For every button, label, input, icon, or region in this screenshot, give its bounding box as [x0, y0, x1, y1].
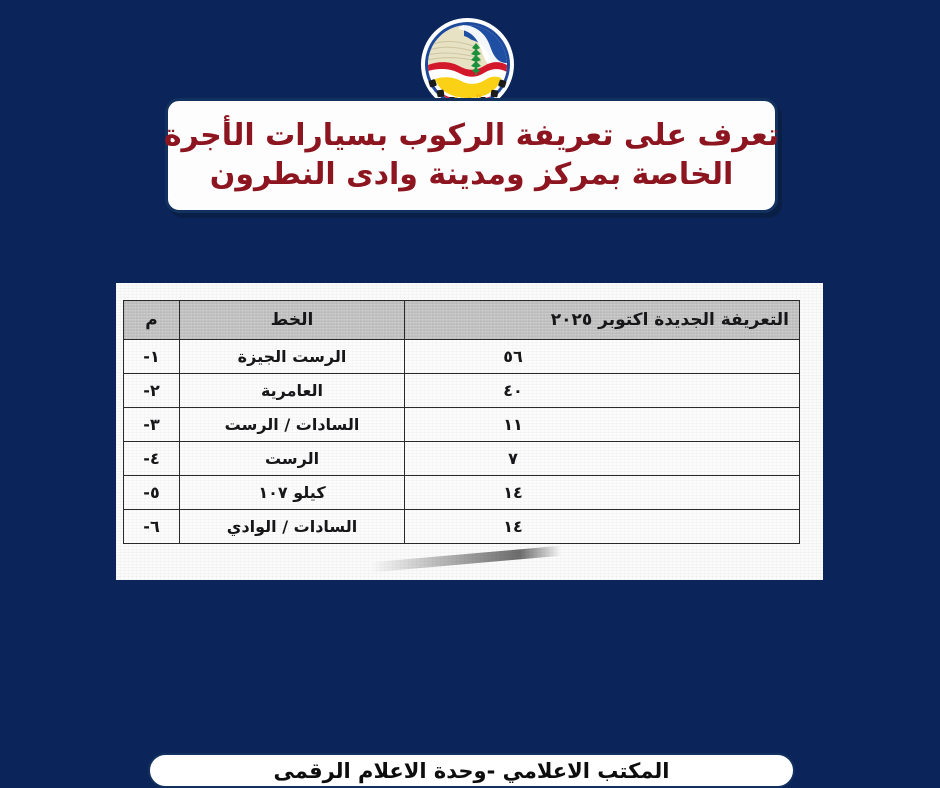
cell-index: ٥-: [124, 476, 180, 510]
cell-fare: ١٤: [405, 476, 800, 510]
table-row: ١٤ كيلو ١٠٧ ٥-: [124, 476, 800, 510]
table-row: ٥٦ الرست الجيزة ١-: [124, 340, 800, 374]
title-banner: تعرف على تعريفة الركوب بسيارات الأجرة ال…: [165, 98, 778, 213]
cell-fare: ١٤: [405, 510, 800, 544]
cell-index: ١-: [124, 340, 180, 374]
column-header-line: الخط: [180, 301, 405, 340]
title-line-1: تعرف على تعريفة الركوب بسيارات الأجرة: [164, 117, 779, 155]
cell-index: ٦-: [124, 510, 180, 544]
table-row: ٧ الرست ٤-: [124, 442, 800, 476]
cell-line: العامرية: [180, 374, 405, 408]
cell-line: كيلو ١٠٧: [180, 476, 405, 510]
footer-text: المكتب الاعلامي -وحدة الاعلام الرقمى: [274, 759, 670, 783]
cell-fare: ١١: [405, 408, 800, 442]
cell-index: ٣-: [124, 408, 180, 442]
title-line-2: الخاصة بمركز ومدينة وادى النطرون: [210, 156, 734, 194]
table-row: ٤٠ العامرية ٢-: [124, 374, 800, 408]
table-row: ١٤ السادات / الوادي ٦-: [124, 510, 800, 544]
table-row: ١١ السادات / الرست ٣-: [124, 408, 800, 442]
column-header-fare: التعريفة الجديدة اكتوبر ٢٠٢٥: [405, 301, 800, 340]
column-header-index: م: [124, 301, 180, 340]
cell-line: الرست: [180, 442, 405, 476]
cell-fare: ٧: [405, 442, 800, 476]
cell-index: ٢-: [124, 374, 180, 408]
tariff-table: التعريفة الجديدة اكتوبر ٢٠٢٥ الخط م ٥٦ ا…: [123, 300, 800, 544]
table-header-row: التعريفة الجديدة اكتوبر ٢٠٢٥ الخط م: [124, 301, 800, 340]
cell-fare: ٤٠: [405, 374, 800, 408]
footer-banner: المكتب الاعلامي -وحدة الاعلام الرقمى: [148, 753, 795, 788]
scanned-document: التعريفة الجديدة اكتوبر ٢٠٢٥ الخط م ٥٦ ا…: [116, 283, 823, 580]
cell-line: السادات / الوادي: [180, 510, 405, 544]
cell-fare: ٥٦: [405, 340, 800, 374]
cell-line: السادات / الرست: [180, 408, 405, 442]
cell-line: الرست الجيزة: [180, 340, 405, 374]
cell-index: ٤-: [124, 442, 180, 476]
